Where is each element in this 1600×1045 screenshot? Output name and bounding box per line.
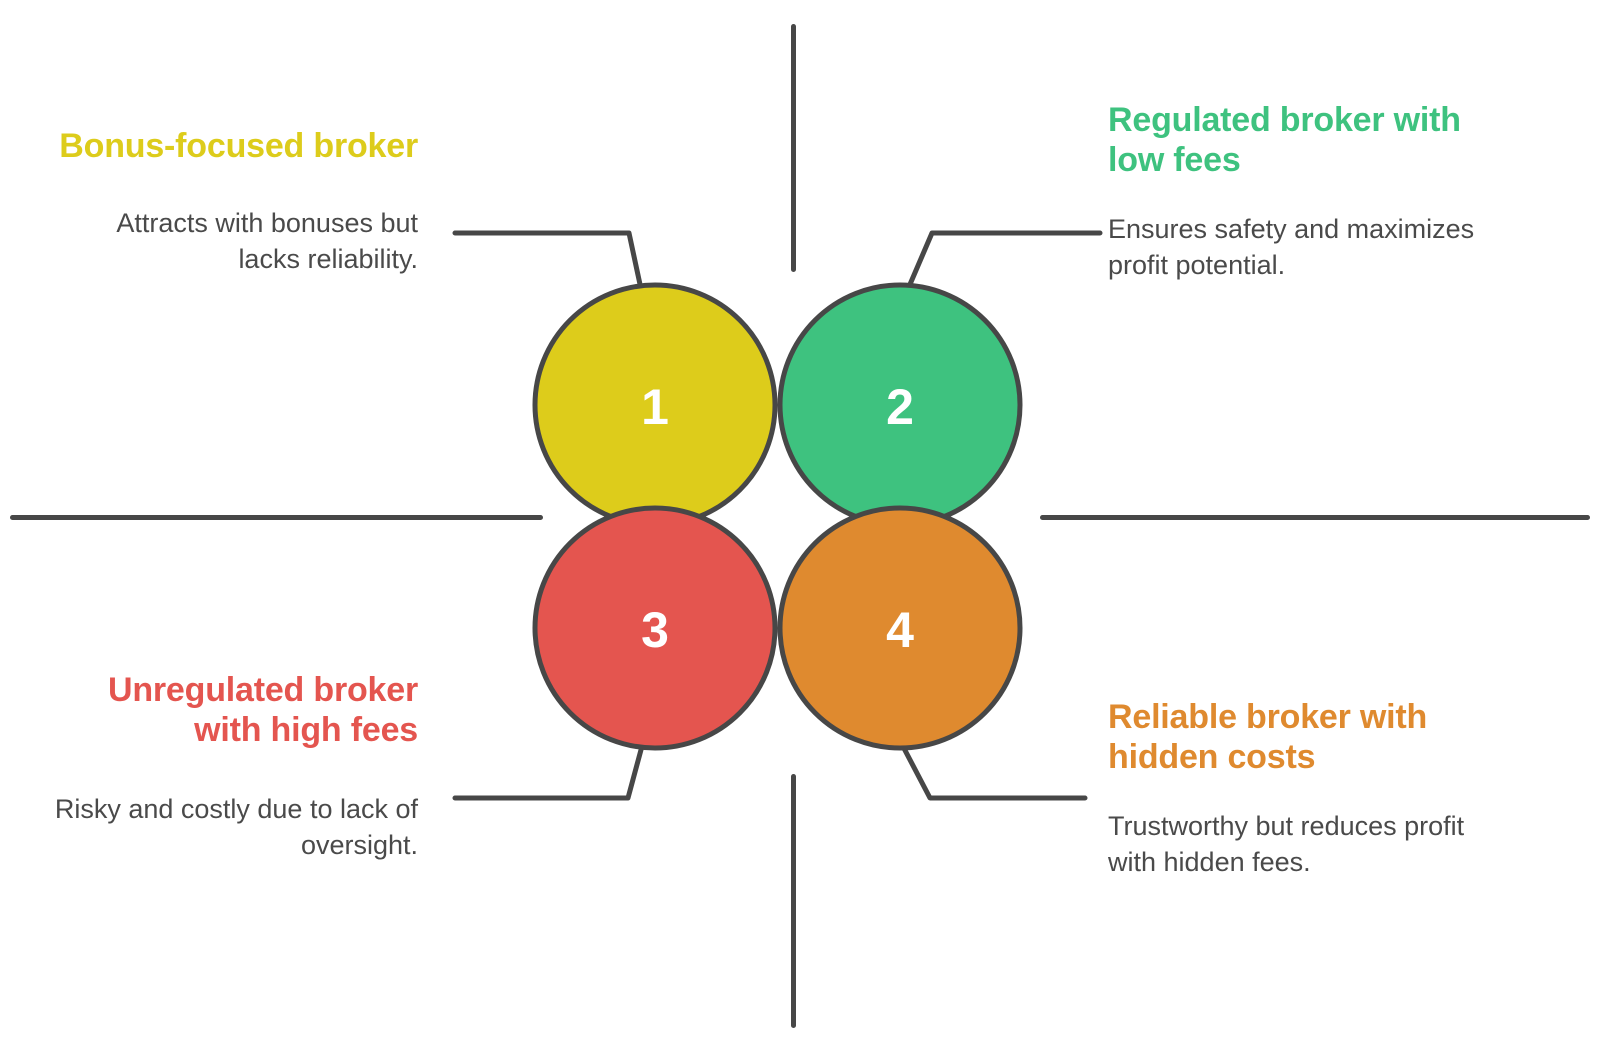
quadrant-block-4: Reliable broker with hidden costs Trustw… [1108,697,1500,881]
divider-line-right [1040,515,1590,520]
quadrant-block-1: Bonus-focused broker Attracts with bonus… [48,126,418,278]
divider-line-top [791,24,796,272]
circle-cluster: 1 2 3 4 [515,270,1035,760]
bubble-number-4: 4 [886,602,914,658]
quadrant-description-4: Trustworthy but reduces profit with hidd… [1108,809,1500,881]
divider-line-bottom [791,774,796,1028]
divider-line-left [10,515,543,520]
quadrant-block-3: Unregulated broker with high fees Risky … [48,670,418,864]
bubble-number-2: 2 [886,379,914,435]
infographic-canvas: 1 2 3 4 Bonus-focused broker Attracts wi… [0,0,1600,1045]
quadrant-description-1: Attracts with bonuses but lacks reliabil… [48,206,418,278]
quadrant-description-2: Ensures safety and maximizes profit pote… [1108,212,1498,284]
quadrant-title-2: Regulated broker with low fees [1108,100,1498,180]
quadrant-description-3: Risky and costly due to lack of oversigh… [48,792,418,864]
quadrant-title-3: Unregulated broker with high fees [48,670,418,750]
quadrant-title-4: Reliable broker with hidden costs [1108,697,1500,777]
bubble-number-3: 3 [641,602,669,658]
bubble-number-1: 1 [641,379,669,435]
quadrant-title-1: Bonus-focused broker [48,126,418,166]
quadrant-block-2: Regulated broker with low fees Ensures s… [1108,100,1498,284]
